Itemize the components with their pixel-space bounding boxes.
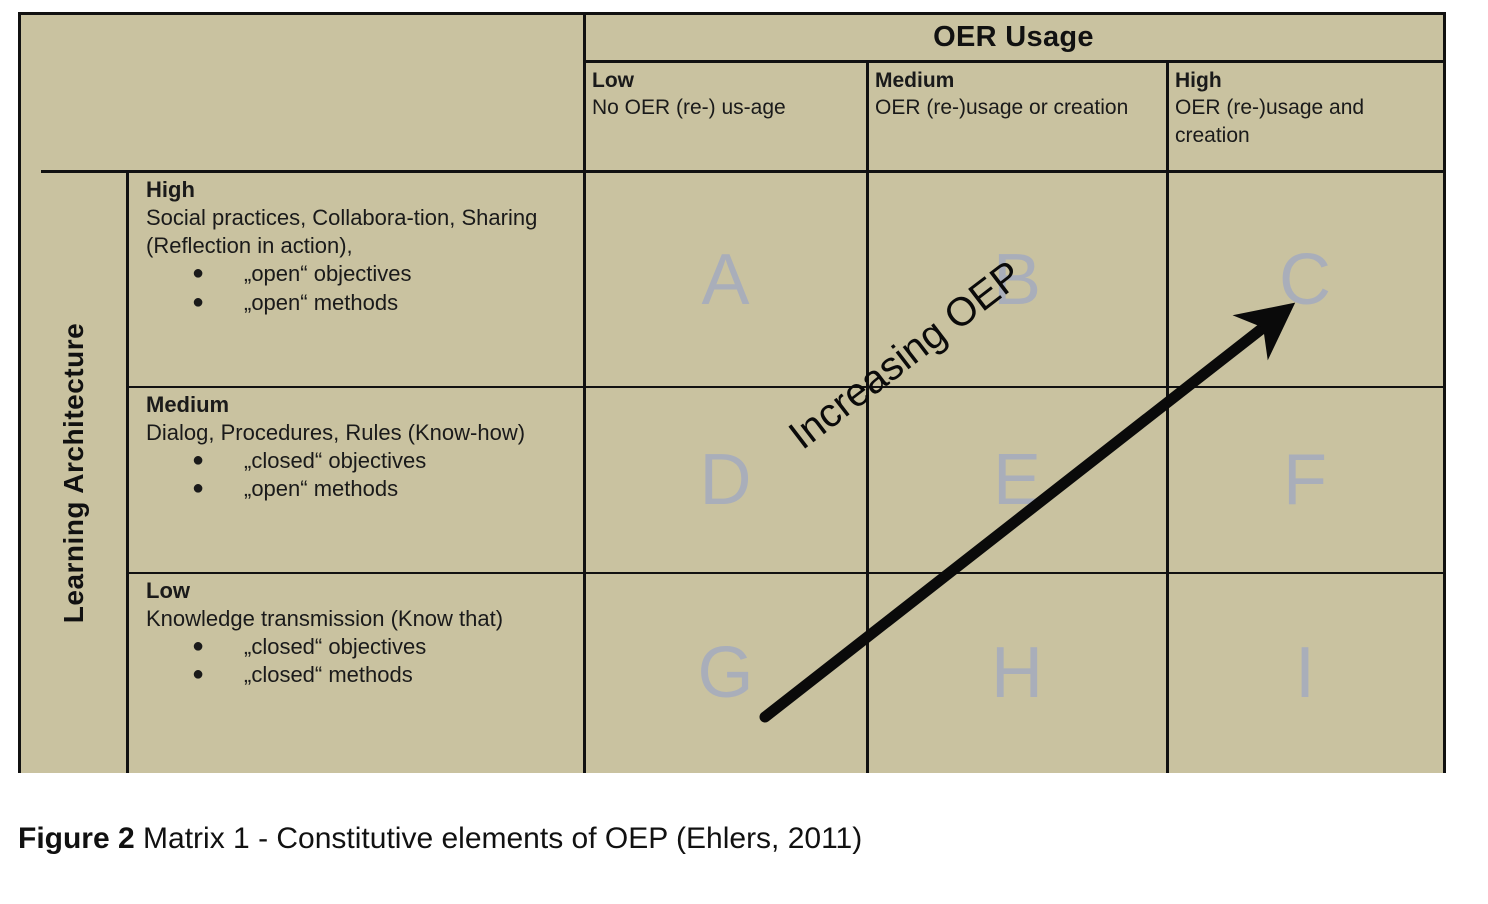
column-header-high: High OER (re-)usage and creation — [1167, 63, 1443, 172]
row-header-medium-bullets: ●„closed“ objectives ●„open“ methods — [146, 447, 578, 503]
quadrant-cell-high-medium: B — [867, 172, 1167, 387]
grid-line-h-row-high-medium — [128, 386, 1443, 388]
row-axis-title: Learning Architecture — [59, 322, 91, 622]
column-header-high-description: OER (re-)usage and creation — [1175, 94, 1435, 149]
column-header-low-description: No OER (re-) us-age — [592, 94, 859, 121]
column-header-medium-description: OER (re-)usage or creation — [875, 94, 1159, 121]
grid-line-v-col-medium — [866, 60, 869, 773]
oep-matrix-table: OER Usage Low No OER (re-) us-age Medium… — [18, 12, 1446, 773]
list-item-label: „open“ objectives — [244, 261, 412, 286]
row-header-medium-description: Dialog, Procedures, Rules (Know-how) — [146, 419, 578, 447]
column-header-high-title: High — [1175, 67, 1435, 94]
column-header-low-title: Low — [592, 67, 859, 94]
quadrant-cell-low-high: I — [1167, 573, 1443, 773]
row-header-high-description: Social practices, Collabora-tion, Sharin… — [146, 204, 578, 260]
quadrant-cell-low-medium: H — [867, 573, 1167, 773]
quadrant-cell-medium-medium: E — [867, 387, 1167, 573]
list-item-label: „closed“ methods — [244, 662, 413, 687]
list-item: ●„closed“ methods — [192, 661, 578, 689]
list-item-label: „closed“ objectives — [244, 448, 426, 473]
grid-line-v-axis-label — [126, 170, 129, 773]
column-header-low: Low No OER (re-) us-age — [584, 63, 867, 172]
grid-line-h-header-main — [128, 170, 1443, 173]
bullet-icon: ● — [192, 475, 204, 502]
quadrant-cell-medium-low: D — [584, 387, 867, 573]
quadrant-cell-low-low: G — [584, 573, 867, 773]
row-axis-title-cell: Learning Architecture — [21, 172, 128, 773]
bullet-icon: ● — [192, 289, 204, 316]
matrix-corner-blank — [21, 15, 584, 172]
list-item: ●„open“ methods — [192, 289, 578, 317]
quadrant-cell-high-high: C — [1167, 172, 1443, 387]
row-header-medium-title: Medium — [146, 391, 578, 419]
list-item: ●„closed“ objectives — [192, 447, 578, 475]
column-header-medium: Medium OER (re-)usage or creation — [867, 63, 1167, 172]
row-header-low-bullets: ●„closed“ objectives ●„closed“ methods — [146, 633, 578, 689]
grid-line-h-row-medium-low — [128, 572, 1443, 574]
grid-line-v-col-high — [1166, 60, 1169, 773]
row-header-low-description: Knowledge transmission (Know that) — [146, 605, 578, 633]
bullet-icon: ● — [192, 661, 204, 688]
list-item-label: „closed“ objectives — [244, 634, 426, 659]
list-item: ●„closed“ objectives — [192, 633, 578, 661]
quadrant-cell-medium-high: F — [1167, 387, 1443, 573]
list-item: ●„open“ methods — [192, 475, 578, 503]
quadrant-cell-high-low: A — [584, 172, 867, 387]
figure-caption-number: Figure 2 — [18, 822, 135, 855]
grid-line-h-oer-title — [584, 60, 1443, 63]
row-header-medium: Medium Dialog, Procedures, Rules (Know-h… — [128, 387, 584, 573]
column-axis-title: OER Usage — [584, 15, 1443, 60]
list-item-label: „open“ methods — [244, 290, 398, 315]
grid-line-h-header-left — [41, 170, 126, 173]
column-header-medium-title: Medium — [875, 67, 1159, 94]
row-header-high-title: High — [146, 176, 578, 204]
row-header-high-bullets: ●„open“ objectives ●„open“ methods — [146, 260, 578, 316]
row-header-high: High Social practices, Collabora-tion, S… — [128, 172, 584, 387]
figure-caption: Figure 2 Matrix 1 - Constitutive element… — [18, 822, 862, 856]
grid-line-v-col-low — [583, 15, 586, 773]
list-item-label: „open“ methods — [244, 476, 398, 501]
bullet-icon: ● — [192, 447, 204, 474]
row-header-low: Low Knowledge transmission (Know that) ●… — [128, 573, 584, 773]
bullet-icon: ● — [192, 260, 204, 287]
row-header-low-title: Low — [146, 577, 578, 605]
bullet-icon: ● — [192, 633, 204, 660]
list-item: ●„open“ objectives — [192, 260, 578, 288]
figure-caption-text: Matrix 1 - Constitutive elements of OEP … — [143, 822, 862, 855]
figure-container: OER Usage Low No OER (re-) us-age Medium… — [0, 0, 1488, 904]
